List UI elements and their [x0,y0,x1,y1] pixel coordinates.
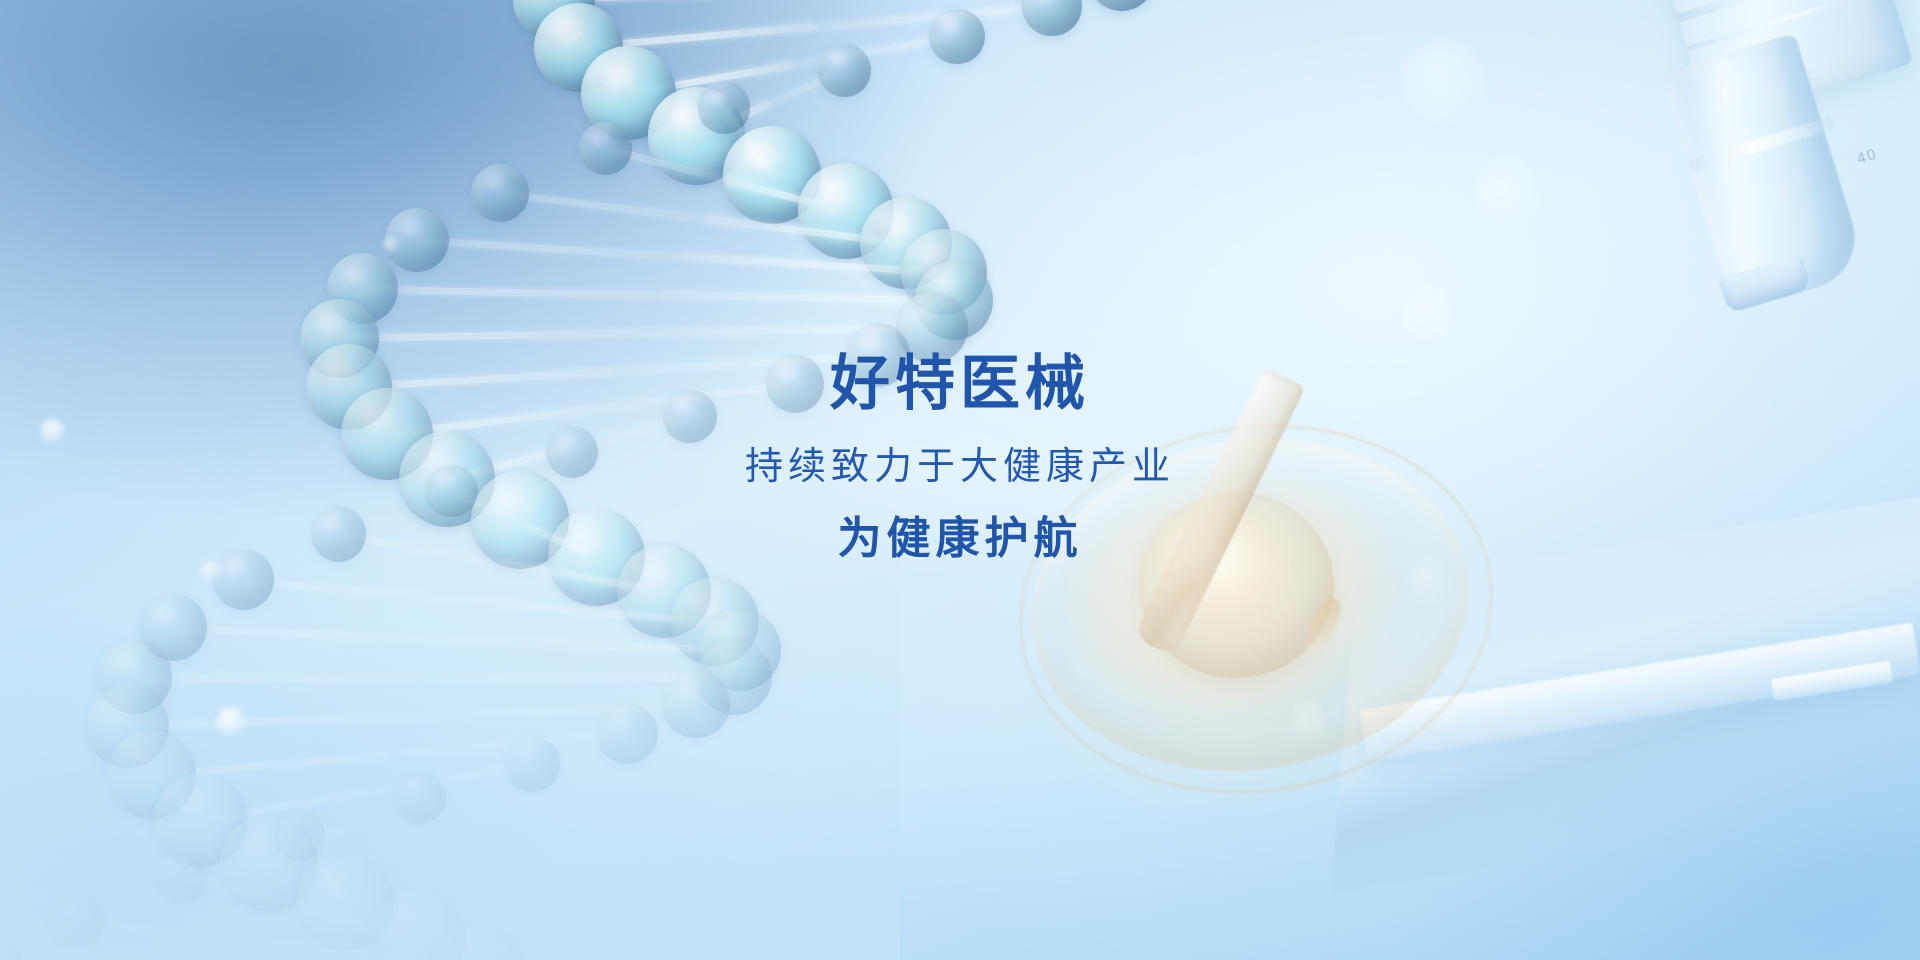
dna-nucleotide-bead [0,935,24,960]
hero-copy-block: 好特医械 持续致力于大健康产业 为健康护航 [0,352,1920,563]
dna-nucleotide-bead [505,736,561,792]
bokeh-dot [1292,700,1326,744]
dna-strand-rod [243,577,479,605]
dna-nucleotide-bead [929,9,985,65]
microscope-objective-image: 40 [1500,0,1920,410]
bokeh-dot [1476,156,1538,234]
dna-nucleotide-bead [579,122,633,176]
dna-strand-rod [75,917,277,949]
dna-nucleotide-bead [662,671,730,739]
dna-nucleotide-bead [273,809,325,861]
bokeh-dot [1400,40,1486,126]
dna-strand-rod [554,0,838,3]
dna-nucleotide-bead [394,771,447,824]
dna-strand-rod [500,190,704,222]
hero-title: 好特医械 [0,352,1920,417]
hero-banner: 40 好特医械 持续致力于大健康产业 为健康护航 [0,0,1920,960]
dna-nucleotide-bead [818,44,871,97]
bokeh-dot [382,236,400,254]
bokeh-dot [1404,286,1452,350]
bokeh-dot [1408,556,1448,610]
dna-nucleotide-bead [698,81,750,133]
dna-strand-rod [417,237,681,260]
dna-strand-rod [340,330,636,342]
dna-nucleotide-bead [154,849,208,903]
hero-subtitle: 持续致力于大健康产业 [0,447,1920,489]
hero-slogan: 为健康护航 [0,515,1920,563]
microscope-magnification-label: 40 [1855,145,1880,167]
bokeh-dot [216,706,246,736]
dna-strand-rod [127,713,412,731]
bokeh-dot [200,560,222,582]
dna-nucleotide-bead [47,891,105,949]
dna-strand-rod [134,674,434,681]
dna-nucleotide-bead [471,164,529,222]
dna-strand-rod [173,625,457,643]
dna-strand-rod [362,286,658,299]
dna-nucleotide-bead [597,703,658,764]
